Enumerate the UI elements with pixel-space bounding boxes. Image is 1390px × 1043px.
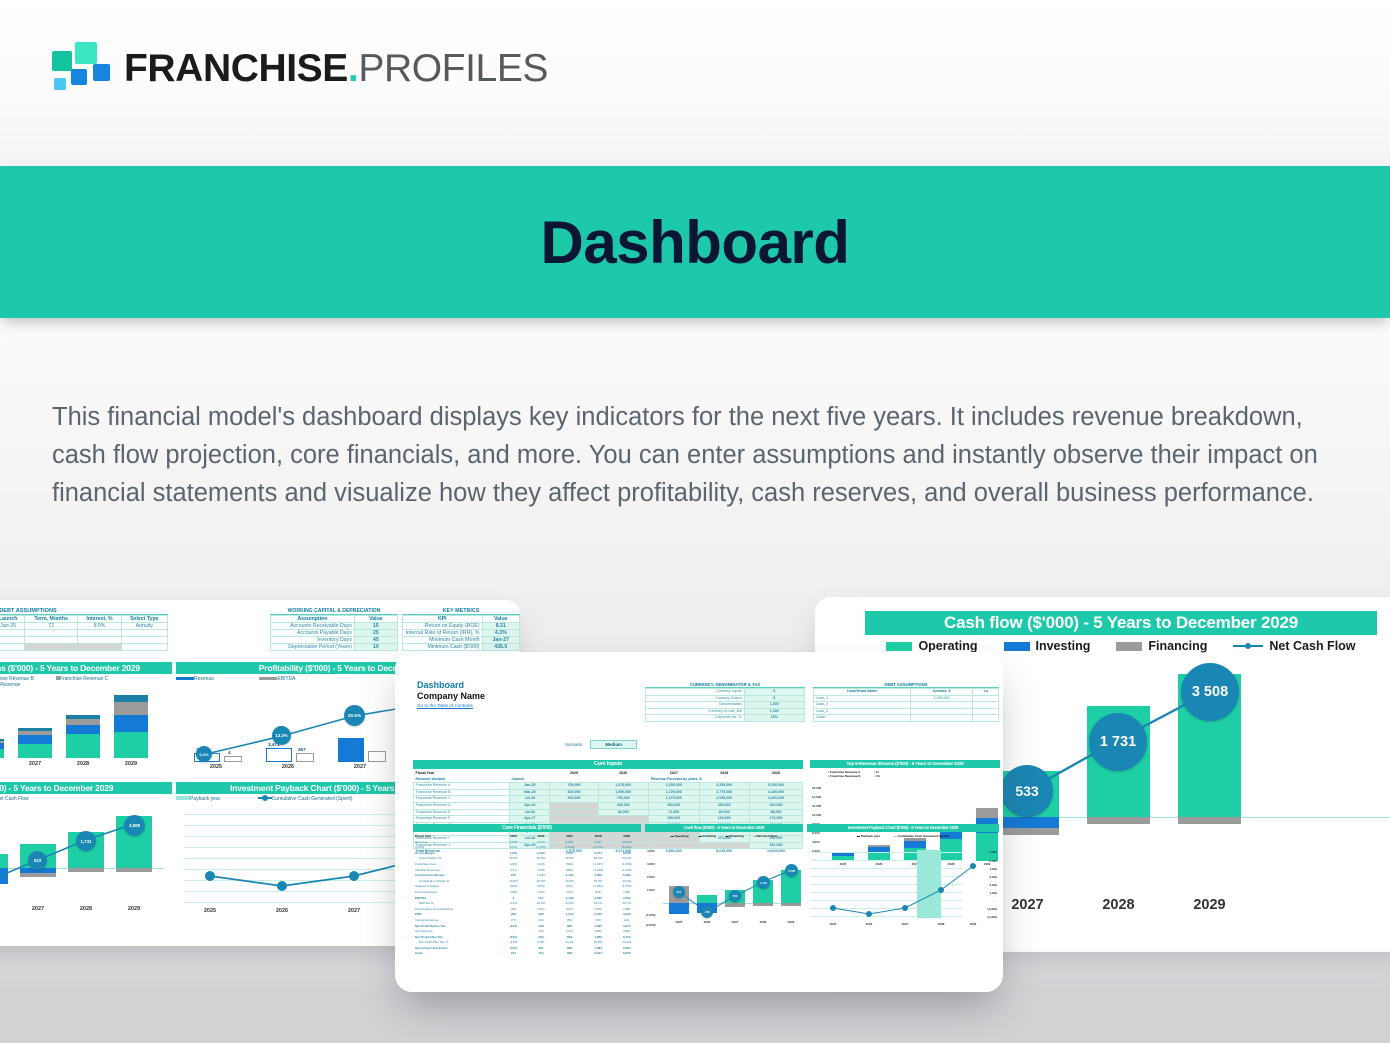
brand-name-dot: .	[348, 47, 358, 90]
scenario-selector[interactable]: Scenario Medium	[565, 740, 637, 749]
data-label-2029: 3 508	[1181, 663, 1239, 721]
table-key-metrics: KPIValue Return on Equity (ROE)8.31 Inte…	[402, 615, 520, 651]
legend-item-investing: Investing	[1004, 639, 1091, 653]
chart-title-top5: Top 5 Revenue Streams ($'000) - 5 Years …	[0, 662, 172, 674]
center-heading-link[interactable]: Go to the Table of Contents	[417, 703, 485, 708]
chart-top5-revenue-streams[interactable]: Top 5 Revenue Streams ($'000) - 5 Years …	[0, 662, 172, 780]
page-title: Dashboard	[541, 208, 850, 277]
data-label-2027: 533	[1001, 765, 1053, 817]
brand-wordmark: FRANCHISE.PROFILES	[124, 49, 548, 88]
legend-item-operating: Operating	[886, 639, 977, 653]
scenario-value[interactable]: Medium	[590, 740, 637, 749]
xaxis-label-2027: 2027	[996, 897, 1059, 913]
page-description: This financial model's dashboard display…	[52, 398, 1342, 512]
chart-plot-top5	[0, 692, 162, 758]
section-debt-assumptions: DEBT ASSUMPTIONS Loan/Grant NameAmount, …	[813, 682, 999, 722]
table-debt-assumptions-center: Loan/Grant NameAmount, $La Loan_11,000,0…	[813, 688, 999, 722]
table-working-capital: AssumptionValue Accounts Receivable Days…	[270, 615, 398, 651]
section-currency-denominator-tax: CURRENCY, DENOMINATOR & TAX Currency Inp…	[645, 682, 805, 722]
table-title-debt-assumptions: DEBT ASSUMPTIONS	[0, 608, 168, 615]
chart-legend-top5: Franchise Revenue A Franchise Revenue B …	[0, 674, 172, 688]
legend-cashflow-center: ▬ Operating▬ Investing▬ Financing—Net Ca…	[645, 832, 803, 838]
table-debt-assumptions: Loan/Grant NameAmount, $Launch Term, Mon…	[0, 615, 168, 651]
section-title-cashflow-center: Cash flow ($'000) - 5 Years to December …	[645, 824, 803, 832]
legend-item-net-cash-flow: Net Cash Flow	[1233, 639, 1355, 653]
scenario-label: Scenario	[565, 742, 582, 747]
table-row: Cash9171546862,9175,925	[413, 951, 641, 957]
legend-swatch-operating	[886, 642, 912, 651]
chart-plot-cashflow-small: 917 -763 533 1,731 3,508	[0, 810, 164, 902]
center-dashboard-card[interactable]: Dashboard Company Name Go to the Table o…	[395, 652, 1003, 992]
table-title-working-capital: WORKING CAPITAL & DEPRECIATION	[270, 608, 398, 615]
section-core-financials: Core Financials ($'000) Fiscal Year 2025…	[413, 824, 641, 957]
chart-cashflow-small[interactable]: Cash flow ($'000) - 5 Years to December …	[0, 782, 172, 930]
cashflow-chart-legend: Operating Investing Financing Net Cash F…	[865, 639, 1377, 653]
section-title-payback-center: Investment Payback Chart ($'000) - 5 Yea…	[807, 824, 999, 832]
slide-root: FRANCHISE.PROFILES Dashboard This financ…	[0, 0, 1390, 1043]
center-heading-company: Company Name	[417, 691, 485, 701]
data-label-2028: 1 731	[1089, 713, 1147, 771]
chart-plot-payback-center: 6,000 5,000 4,000 3,000 2,000 1,000 - (1…	[807, 846, 999, 930]
logo-squares-icon	[52, 40, 110, 96]
table-title-key-metrics: KEY METRICS	[402, 608, 520, 615]
section-top5-revenue-center[interactable]: Top 5 Revenue Streams ($'000) - 5 Years …	[810, 760, 1000, 778]
section-title-core-financials: Core Financials ($'000)	[413, 824, 641, 832]
legend-item-financing: Financing	[1116, 639, 1207, 653]
title-banner: Dashboard	[0, 166, 1390, 318]
legend-swatch-investing	[1004, 642, 1030, 651]
section-cashflow-center[interactable]: Cash flow ($'000) - 5 Years to December …	[645, 824, 803, 838]
xaxis-label-2029: 2029	[1178, 897, 1241, 913]
legend-swatch-financing	[1116, 642, 1142, 651]
center-card-heading: Dashboard Company Name Go to the Table o…	[417, 680, 485, 708]
chart-plot-cashflow-center: 4,000 3,000 2,000 1,000 - (1,000) (2,000…	[645, 846, 803, 930]
legend-top5-center: ▪ Franchise Revenue A▪ Fr ▪ Franchise Re…	[810, 768, 1000, 778]
legend-payback-center: ▬ Payback year— Cumulative Cash Generate…	[807, 832, 999, 838]
cashflow-chart-title: Cash flow ($'000) - 5 Years to December …	[865, 611, 1377, 635]
table-core-financials: Fiscal Year 2025 2026 2027 2028 2029 Rev…	[413, 834, 641, 957]
chart-title-cashflow-small: Cash flow ($'000) - 5 Years to December …	[0, 782, 172, 794]
section-title-top5-center: Top 5 Revenue Streams ($'000) - 5 Years …	[810, 760, 1000, 768]
page-header: FRANCHISE.PROFILES	[0, 0, 1390, 166]
xaxis-label-2028: 2028	[1087, 897, 1150, 913]
brand-name-light: PROFILES	[358, 47, 548, 90]
section-payback-center[interactable]: Investment Payback Chart ($'000) - 5 Yea…	[807, 824, 999, 838]
section-title-core-inputs: Core Inputs	[413, 760, 803, 769]
table-currency-denominator-tax: Currency Inputs$ Currency Output$ Denomi…	[645, 688, 805, 722]
legend-swatch-net-cash-flow	[1233, 642, 1263, 651]
brand-name-bold: FRANCHISE	[124, 47, 348, 90]
brand-logo[interactable]: FRANCHISE.PROFILES	[52, 40, 548, 96]
chart-legend-cashflow-small: Operating Investing Financing Net Cash F…	[0, 794, 172, 808]
center-heading-title: Dashboard	[417, 680, 485, 690]
